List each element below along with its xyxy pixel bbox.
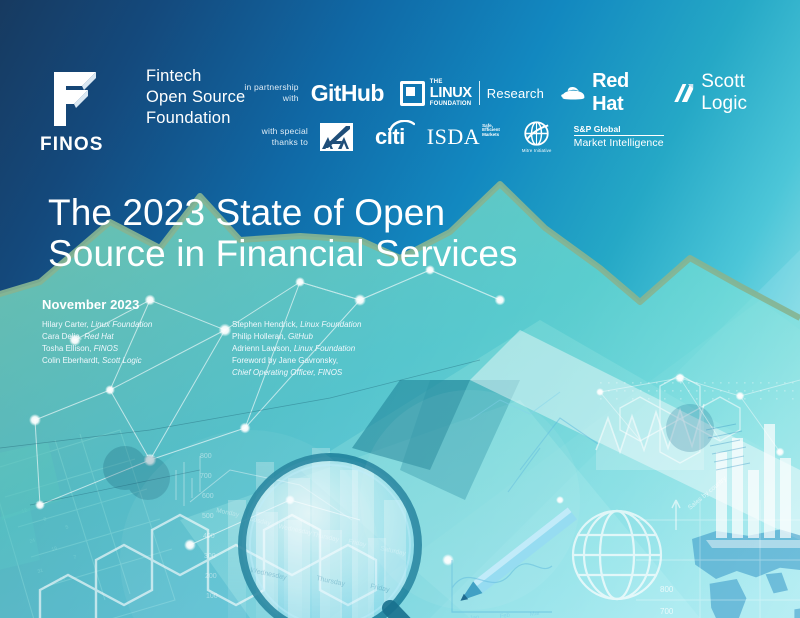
linux-foundation-wordmark: THE LINUX FOUNDATION	[430, 78, 472, 108]
linux-foundation-research-logo: THE LINUX FOUNDATION Research	[400, 78, 544, 108]
sp-global-wordmark: S&P Global Market Intelligence	[574, 124, 664, 150]
mitre-initiative-caption: Mitre Initiative	[522, 148, 552, 153]
author-org: Scott Logic	[102, 356, 142, 365]
author-name: Colin Eberhardt,	[42, 356, 100, 365]
author-org: Linux Foundation	[294, 344, 355, 353]
report-title-line-2: Source in Financial Services	[48, 233, 608, 274]
authors-left-column: Hilary Carter, Linux Foundation Cara Del…	[42, 320, 232, 380]
sp-global-top: S&P Global	[574, 124, 664, 136]
finos-name-line-2: Open Source	[146, 87, 245, 108]
foreword-credit-line-2: Chief Operating Officer, FINOS	[232, 368, 442, 379]
lf-foundation-text: FOUNDATION	[430, 100, 472, 108]
author-name: Hilary Carter,	[42, 320, 89, 329]
foreword-credit-line-1: Foreword by Jane Gavronsky,	[232, 356, 442, 367]
sponsors-label-line-1: with special	[232, 126, 308, 137]
report-title: The 2023 State of Open Source in Financi…	[48, 192, 608, 274]
report-cover: 12 8 5 24 19 7 31 14	[0, 0, 800, 618]
scott-logic-wordmark: Scott Logic	[701, 71, 784, 115]
globe-icon	[523, 120, 550, 147]
author-entry: Philip Holleran, GitHub	[232, 332, 442, 343]
author-entry: Colin Eberhardt, Scott Logic	[42, 356, 232, 367]
sponsors-label: with special thanks to	[232, 126, 308, 148]
author-entry: Tosha Ellison, FINOS	[42, 344, 232, 355]
author-name: Stephen Hendrick,	[232, 320, 298, 329]
sponsors-label-line-2: thanks to	[232, 137, 308, 148]
author-org: Linux Foundation	[300, 320, 361, 329]
publication-date: November 2023	[42, 297, 139, 312]
partners-label: in partnership with	[232, 82, 299, 104]
author-org: GitHub	[288, 332, 313, 341]
sponsors-row: with special thanks to citi	[232, 120, 680, 153]
finos-full-name: Fintech Open Source Foundation	[146, 66, 245, 129]
sp-global-bottom: Market Intelligence	[574, 137, 664, 149]
citi-logo: citi	[375, 124, 405, 150]
mitre-initiative-logo: Mitre Initiative	[522, 120, 552, 153]
finos-name-line-3: Foundation	[146, 108, 245, 129]
isda-logo: ISDA Safe, Efficient Markets	[427, 124, 500, 150]
author-org: FINOS	[94, 344, 118, 353]
partners-label-line-2: with	[232, 93, 299, 104]
red-hat-fedora-icon	[560, 84, 586, 102]
lf-linux-text: LINUX	[430, 86, 472, 100]
finos-name-line-1: Fintech	[146, 66, 245, 87]
linux-foundation-mark-icon	[400, 81, 425, 106]
author-entry: Hilary Carter, Linux Foundation	[42, 320, 232, 331]
finos-brand-lockup: FINOS Fintech Open Source Foundation	[40, 68, 220, 163]
lf-divider	[479, 81, 480, 105]
sp-global-market-intelligence-logo: S&P Global Market Intelligence	[574, 124, 664, 150]
red-hat-logo: Red Hat	[560, 70, 656, 116]
citi-wordmark: citi	[375, 124, 405, 150]
author-org: Red Hat	[84, 332, 113, 341]
red-hat-wordmark: Red Hat	[592, 70, 655, 116]
finos-wordmark: FINOS	[40, 134, 110, 156]
partners-row: in partnership with GitHub THE LINUX FOU…	[232, 70, 800, 116]
svg-text:700: 700	[660, 607, 674, 616]
github-wordmark: GitHub	[311, 80, 384, 107]
author-entry: Stephen Hendrick, Linux Foundation	[232, 320, 442, 331]
partners-label-line-1: in partnership	[232, 82, 299, 93]
author-name: Cara Delia,	[42, 332, 82, 341]
report-title-line-1: The 2023 State of Open	[48, 192, 608, 233]
lf-research-text: Research	[487, 86, 544, 101]
author-credits: Hilary Carter, Linux Foundation Cara Del…	[42, 320, 442, 380]
citi-arc-icon	[389, 120, 415, 132]
isda-tagline-3: Markets	[482, 133, 500, 138]
axa-logo	[320, 123, 353, 151]
scott-logic-logo: Scott Logic	[672, 71, 784, 115]
isda-tagline: Safe, Efficient Markets	[482, 124, 500, 138]
svg-text:Feb: Feb	[499, 613, 511, 618]
author-name: Philip Holleran,	[232, 332, 286, 341]
author-entry: Adrienn Lawson, Linux Foundation	[232, 344, 442, 355]
authors-right-column: Stephen Hendrick, Linux Foundation Phili…	[232, 320, 442, 380]
cover-header: FINOS Fintech Open Source Foundation in …	[0, 0, 800, 175]
isda-wordmark: ISDA	[427, 124, 480, 150]
author-entry: Cara Delia, Red Hat	[42, 332, 232, 343]
axa-mark-icon	[320, 123, 353, 151]
github-logo: GitHub	[311, 80, 384, 107]
author-name: Adrienn Lawson,	[232, 344, 292, 353]
author-name: Tosha Ellison,	[42, 344, 91, 353]
finos-f-mark-icon	[40, 68, 102, 130]
scott-logic-mark-icon	[672, 80, 695, 106]
author-org: Linux Foundation	[91, 320, 152, 329]
svg-text:800: 800	[660, 585, 674, 594]
